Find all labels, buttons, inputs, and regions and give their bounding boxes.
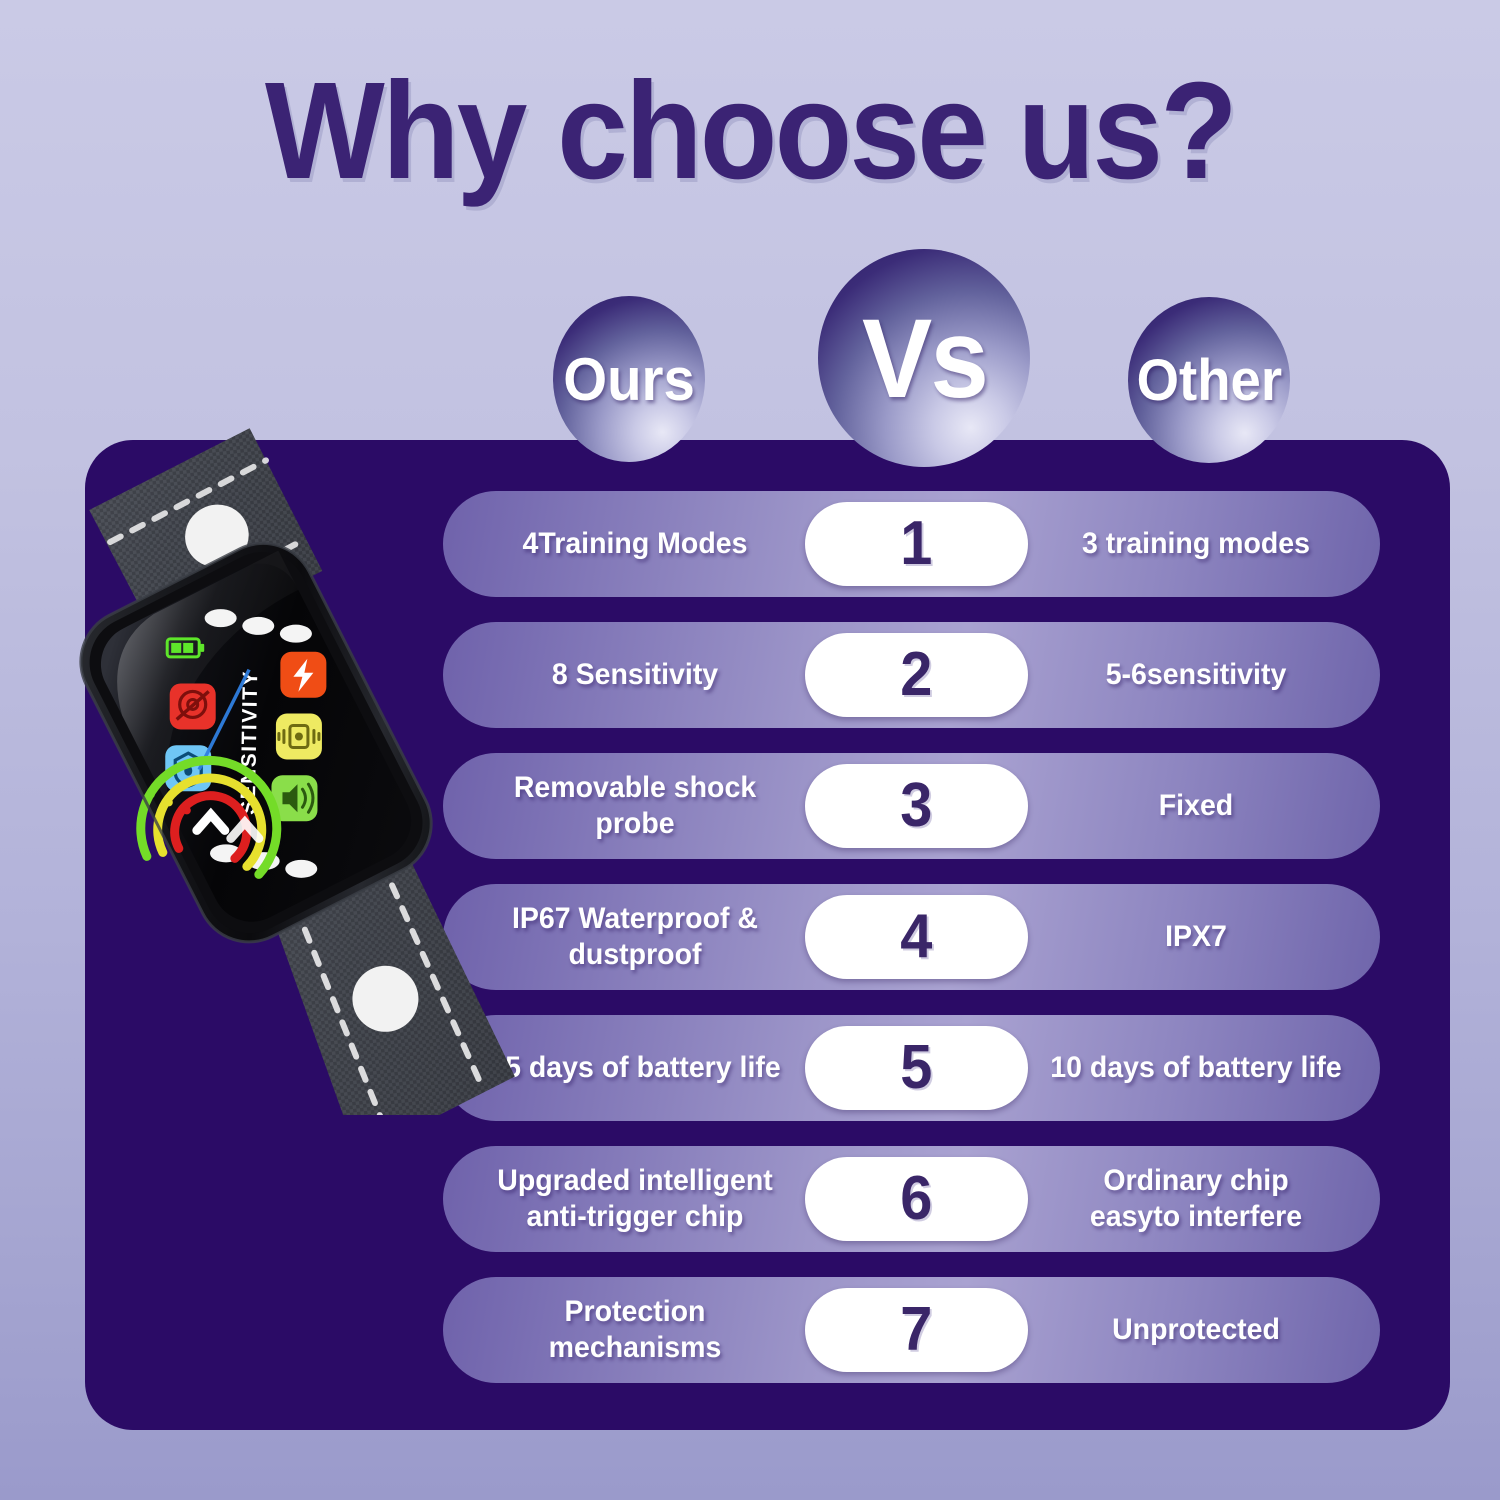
comparison-row-ours-value: 4Training Modes — [474, 526, 797, 562]
page-title: Why choose us? — [60, 62, 1440, 200]
comparison-row-number-pill: 5 — [805, 1026, 1028, 1110]
comparison-row-number: 4 — [900, 906, 932, 968]
comparison-row-number: 3 — [900, 775, 932, 837]
comparison-row-other-value: IPX7 — [1029, 919, 1363, 955]
comparison-row-other-value: 10 days of battery life — [1029, 1050, 1363, 1086]
comparison-row-ours-value: 8 Sensitivity — [474, 657, 797, 693]
header-badge-other-label: Other — [1136, 347, 1281, 414]
comparison-rows: 4Training Modes13 training modes8 Sensit… — [443, 491, 1380, 1383]
header-badge-ours-label: Ours — [563, 345, 695, 414]
comparison-row: IP67 Waterproof & dustproof4IPX7 — [443, 884, 1380, 990]
comparison-row-number: 2 — [900, 644, 932, 706]
comparison-row-other-value: Unprotected — [1029, 1312, 1363, 1348]
comparison-row: 4Training Modes13 training modes — [443, 491, 1380, 597]
comparison-row-other-value: Ordinary chip easyto interfere — [1029, 1163, 1363, 1235]
comparison-row: Upgraded intelligent anti-trigger chip6O… — [443, 1146, 1380, 1252]
comparison-row-number-pill: 7 — [805, 1288, 1028, 1372]
comparison-row-number: 7 — [900, 1299, 932, 1361]
comparison-row-number-pill: 4 — [805, 895, 1028, 979]
comparison-row-number: 6 — [900, 1168, 932, 1230]
comparison-row-ours-value: Protection mechanisms — [474, 1294, 797, 1366]
comparison-row-number-pill: 3 — [805, 764, 1028, 848]
header-badge-other: Other — [1128, 297, 1290, 463]
header-badge-vs-label: Vs — [861, 294, 986, 423]
comparison-row-ours-value: Removable shock probe — [474, 770, 797, 842]
comparison-row-ours-value: IP67 Waterproof & dustproof — [474, 901, 797, 973]
comparison-row: Protection mechanisms7Unprotected — [443, 1277, 1380, 1383]
comparison-row-ours-value: Upgraded intelligent anti-trigger chip — [474, 1163, 797, 1235]
comparison-row-number-pill: 1 — [805, 502, 1028, 586]
comparison-row-number: 5 — [900, 1037, 932, 1099]
comparison-row-other-value: 5-6sensitivity — [1029, 657, 1363, 693]
comparison-row-number-pill: 6 — [805, 1157, 1028, 1241]
comparison-row-other-value: Fixed — [1029, 788, 1363, 824]
comparison-row-number: 1 — [900, 513, 932, 575]
comparison-row-other-value: 3 training modes — [1029, 526, 1363, 562]
header-badge-ours: Ours — [553, 296, 705, 462]
header-badge-vs: Vs — [818, 249, 1030, 467]
comparison-row: 8 Sensitivity25-6sensitivity — [443, 622, 1380, 728]
comparison-row-number-pill: 2 — [805, 633, 1028, 717]
comparison-row: 15 days of battery life510 days of batte… — [443, 1015, 1380, 1121]
comparison-row-ours-value: 15 days of battery life — [474, 1050, 797, 1086]
comparison-row: Removable shock probe3Fixed — [443, 753, 1380, 859]
